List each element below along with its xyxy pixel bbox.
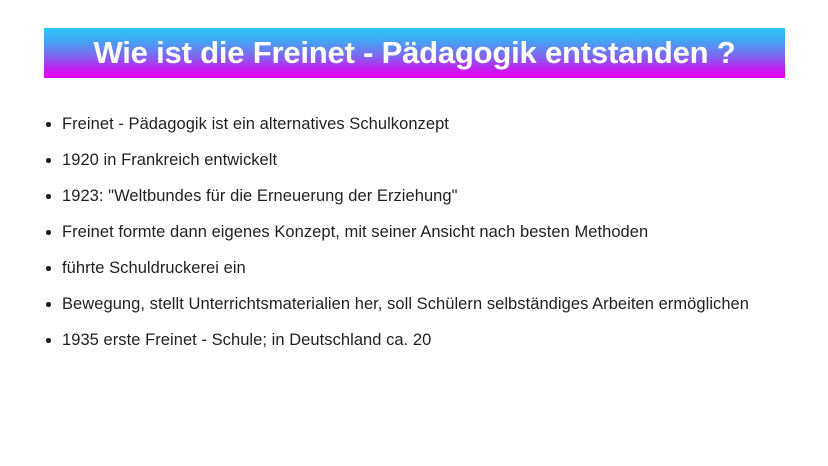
list-item-label: 1923: "Weltbundes für die Erneuerung der… [62,185,804,207]
list-item-label: Bewegung, stellt Unterrichtsmaterialien … [62,293,804,315]
slide-title-banner: Wie ist die Freinet - Pädagogik entstand… [44,28,785,78]
bullet-list: Freinet - Pädagogik ist ein alternatives… [44,113,804,351]
bullet-point-icon [46,302,51,307]
bullet-point-icon [46,230,51,235]
presentation-slide: Wie ist die Freinet - Pädagogik entstand… [0,0,828,466]
list-item: Bewegung, stellt Unterrichtsmaterialien … [44,293,804,315]
list-item-label: 1935 erste Freinet - Schule; in Deutschl… [62,329,804,351]
list-item-label: führte Schuldruckerei ein [62,257,804,279]
list-item: 1935 erste Freinet - Schule; in Deutschl… [44,329,804,351]
page-title: Wie ist die Freinet - Pädagogik entstand… [93,37,735,70]
bullet-point-icon [46,158,51,163]
list-item: Freinet - Pädagogik ist ein alternatives… [44,113,804,135]
list-item: 1920 in Frankreich entwickelt [44,149,804,171]
list-item: führte Schuldruckerei ein [44,257,804,279]
list-item: Freinet formte dann eigenes Konzept, mit… [44,221,804,243]
bullet-point-icon [46,194,51,199]
list-item: 1923: "Weltbundes für die Erneuerung der… [44,185,804,207]
list-item-label: 1920 in Frankreich entwickelt [62,149,804,171]
bullet-point-icon [46,266,51,271]
bullet-point-icon [46,338,51,343]
list-item-label: Freinet - Pädagogik ist ein alternatives… [62,113,804,135]
bullet-point-icon [46,122,51,127]
list-item-label: Freinet formte dann eigenes Konzept, mit… [62,221,804,243]
